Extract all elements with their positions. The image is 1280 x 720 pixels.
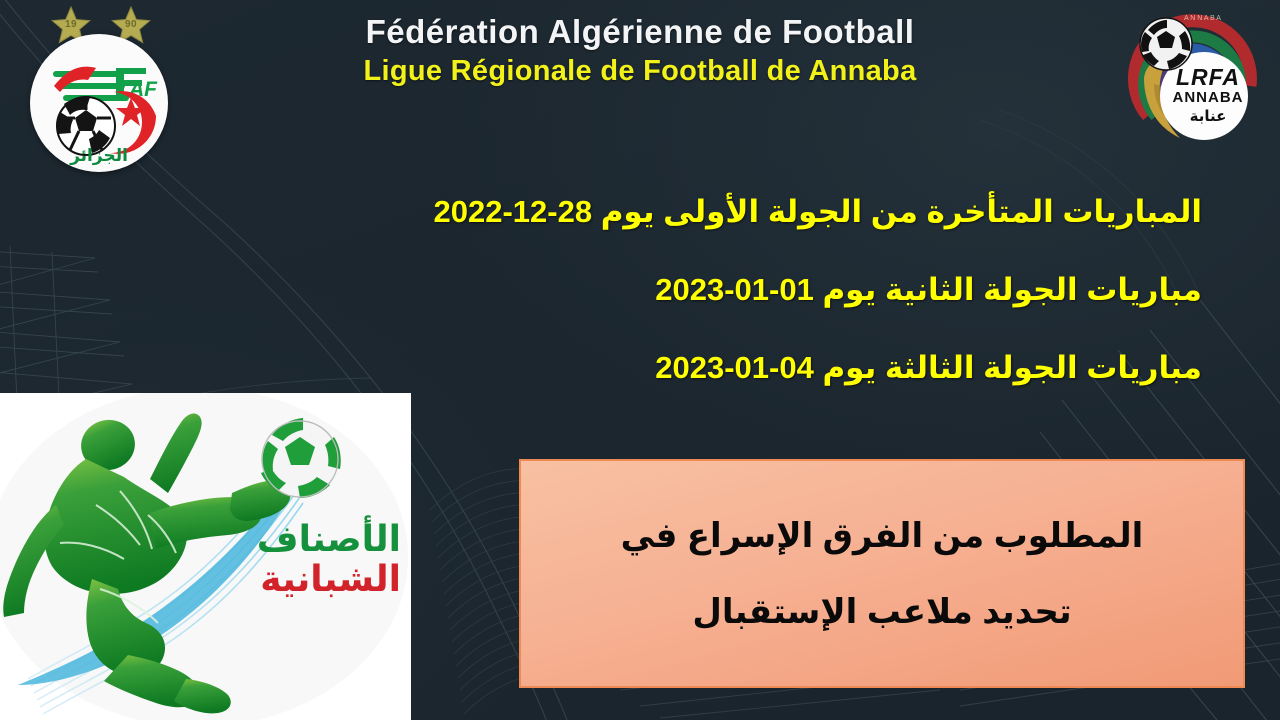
lrfa-city-arabic: عنابة (1158, 108, 1258, 126)
announcement-list: المباريات المتأخرة من الجولة الأولى يوم … (262, 196, 1202, 383)
faf-crest: 19 90 AF (24, 6, 174, 191)
youth-categories-panel: الأصناف الشبانية (0, 393, 411, 720)
faf-badge-disc: AF الجزائر (30, 34, 168, 172)
announcement-line-3: مباريات الجولة الثالثة يوم 04-01-2023 (262, 352, 1202, 383)
youth-logo-wordmark: الأصناف الشبانية (211, 521, 401, 597)
poster-canvas: 19 90 AF (0, 0, 1280, 720)
callout-line-1: المطلوب من الفرق الإسراع في (621, 519, 1144, 553)
svg-text:A N N A B A: A N N A B A (1184, 15, 1221, 22)
star-year-right: 90 (111, 19, 151, 30)
league-title: Ligue Régionale de Football de Annaba (210, 54, 1070, 89)
callout-box: المطلوب من الفرق الإسراع في تحديد ملاعب … (519, 459, 1245, 688)
star-year-left: 19 (51, 19, 91, 30)
header-titles: Fédération Algérienne de Football Ligue … (210, 14, 1070, 89)
youth-label-line-1: الأصناف (211, 521, 401, 557)
lrfa-city: ANNABA (1158, 89, 1258, 108)
lrfa-wordmark: LRFA ANNABA عنابة (1158, 66, 1258, 126)
faf-country-label: الجزائر (30, 146, 168, 166)
announcement-line-2: مباريات الجولة الثانية يوم 01-01-2023 (262, 274, 1202, 305)
federation-title: Fédération Algérienne de Football (210, 14, 1070, 51)
lrfa-annaba-crest: A N N A B A LRFA ANNABA عنابة (1118, 4, 1270, 156)
announcement-line-1: المباريات المتأخرة من الجولة الأولى يوم … (262, 196, 1202, 227)
lrfa-abbr: LRFA (1158, 66, 1258, 89)
youth-label-line-2: الشبانية (211, 561, 401, 597)
callout-line-2: تحديد ملاعب الإستقبال (692, 595, 1071, 629)
